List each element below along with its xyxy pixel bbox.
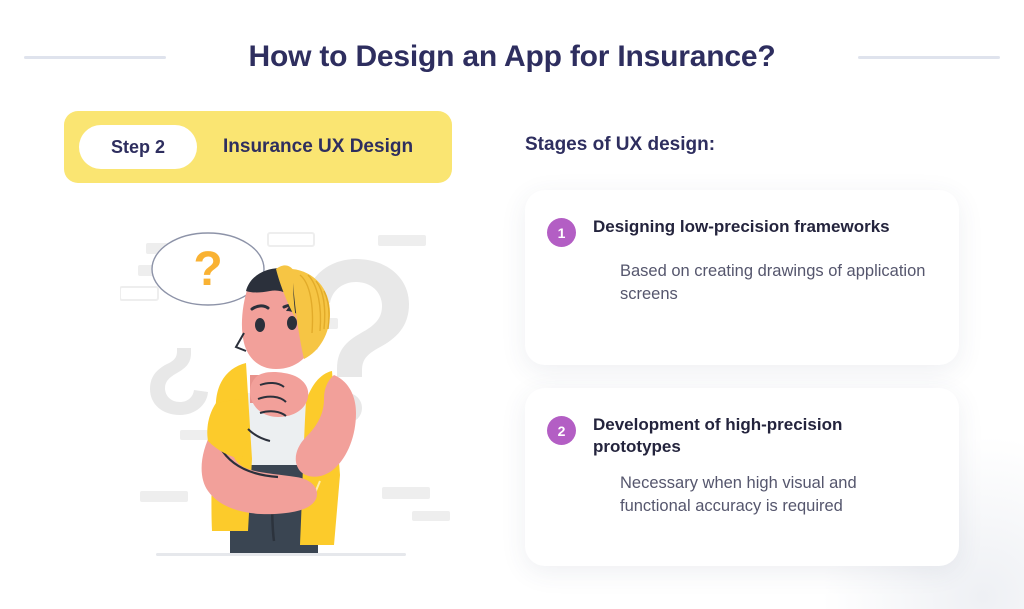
- stage-number-badge: 2: [547, 416, 576, 445]
- step-banner: Step 2 Insurance UX Design: [64, 111, 452, 183]
- stage-description: Necessary when high visual and functiona…: [620, 472, 929, 519]
- page-title: How to Design an App for Insurance?: [0, 34, 1024, 80]
- step-subject-label: Insurance UX Design: [223, 136, 413, 158]
- stage-header: 1 Designing low-precision frameworks: [547, 216, 929, 247]
- illustration-thinking-person: ?: [120, 225, 450, 570]
- stage-description: Based on creating drawings of applicatio…: [620, 260, 929, 307]
- stage-card: 1 Designing low-precision frameworks Bas…: [525, 190, 959, 365]
- header: How to Design an App for Insurance?: [0, 34, 1024, 82]
- stage-number-badge: 1: [547, 218, 576, 247]
- stages-heading: Stages of UX design:: [525, 134, 715, 156]
- stage-title: Designing low-precision frameworks: [593, 216, 890, 238]
- infographic-page: How to Design an App for Insurance? Step…: [0, 0, 1024, 609]
- stage-title: Development of high-precision prototypes: [593, 414, 929, 459]
- stage-card: 2 Development of high-precision prototyp…: [525, 388, 959, 566]
- stage-header: 2 Development of high-precision prototyp…: [547, 414, 929, 459]
- step-badge: Step 2: [79, 125, 197, 169]
- thought-bubble-question-mark: ?: [193, 243, 222, 296]
